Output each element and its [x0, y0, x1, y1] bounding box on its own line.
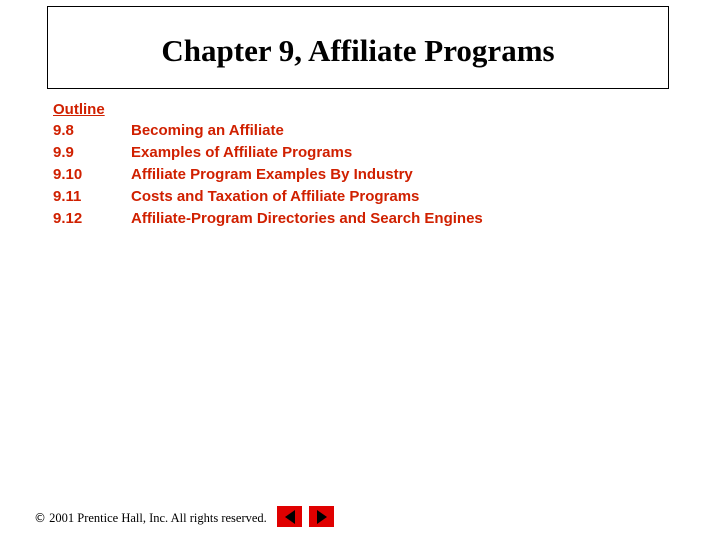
outline-item-number: 9.10: [53, 164, 131, 186]
list-item: 9.11 Costs and Taxation of Affiliate Pro…: [53, 186, 673, 208]
list-item: 9.10 Affiliate Program Examples By Indus…: [53, 164, 673, 186]
outline-item-label: Becoming an Affiliate: [131, 120, 673, 142]
triangle-left-icon: [285, 510, 295, 524]
triangle-right-icon: [317, 510, 327, 524]
page-title: Chapter 9, Affiliate Programs: [48, 33, 668, 69]
previous-slide-button[interactable]: [277, 506, 302, 527]
list-item: 9.8 Becoming an Affiliate: [53, 120, 673, 142]
outline-item-label: Costs and Taxation of Affiliate Programs: [131, 186, 673, 208]
slide-footer: © 2001 Prentice Hall, Inc. All rights re…: [34, 506, 694, 532]
copyright-text: 2001 Prentice Hall, Inc. All rights rese…: [49, 511, 267, 525]
title-box: Chapter 9, Affiliate Programs: [47, 6, 669, 89]
outline-item-number: 9.8: [53, 120, 131, 142]
list-item: 9.9 Examples of Affiliate Programs: [53, 142, 673, 164]
outline-item-label: Affiliate-Program Directories and Search…: [131, 208, 673, 230]
outline-section: Outline 9.8 Becoming an Affiliate 9.9 Ex…: [53, 100, 673, 230]
navigation-controls: [277, 506, 334, 527]
outline-item-number: 9.9: [53, 142, 131, 164]
copyright-notice: © 2001 Prentice Hall, Inc. All rights re…: [34, 511, 267, 526]
outline-item-number: 9.11: [53, 186, 131, 208]
outline-item-label: Affiliate Program Examples By Industry: [131, 164, 673, 186]
copyright-icon: ©: [34, 511, 46, 525]
outline-item-label: Examples of Affiliate Programs: [131, 142, 673, 164]
outline-heading: Outline: [53, 100, 673, 119]
next-slide-button[interactable]: [309, 506, 334, 527]
list-item: 9.12 Affiliate-Program Directories and S…: [53, 208, 673, 230]
outline-item-number: 9.12: [53, 208, 131, 230]
